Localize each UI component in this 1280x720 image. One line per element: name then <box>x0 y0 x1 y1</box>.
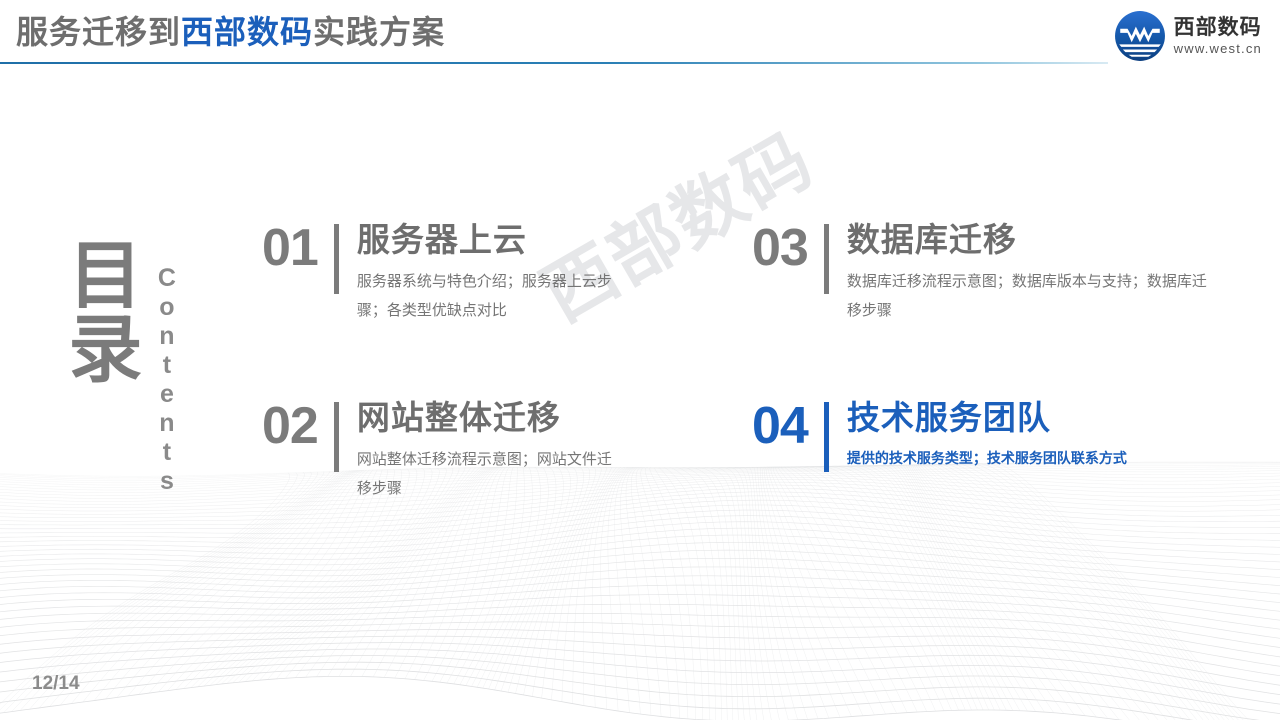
page-title-highlight: 西部数码 <box>181 13 313 51</box>
slide-header: 服务迁移到西部数码实践方案 西部数码 www.west.cn <box>0 0 1280 70</box>
toc-text-block: 技术服务团队 提供的技术服务类型；技术服务团队联系方式 <box>847 400 1212 474</box>
west-cn-circle-logo-icon <box>1114 10 1166 62</box>
toc-description: 服务器系统与特色介绍；服务器上云步骤；各类型优缺点对比 <box>357 267 612 326</box>
toc-text-block: 数据库迁移 数据库迁移流程示意图；数据库版本与支持；数据库迁移步骤 <box>847 222 1212 325</box>
toc-text-block: 网站整体迁移 网站整体迁移流程示意图；网站文件迁移步骤 <box>357 400 612 503</box>
toc-description: 提供的技术服务类型；技术服务团队联系方式 <box>847 445 1212 474</box>
toc-text-block: 服务器上云 服务器系统与特色介绍；服务器上云步骤；各类型优缺点对比 <box>357 222 612 325</box>
toc-title: 数据库迁移 <box>847 222 1212 259</box>
logo-text-block: 西部数码 www.west.cn <box>1174 17 1262 55</box>
toc-divider-bar <box>334 224 339 294</box>
page-title: 服务迁移到西部数码实践方案 <box>16 7 445 53</box>
toc-item-01[interactable]: 01 服务器上云 服务器系统与特色介绍；服务器上云步骤；各类型优缺点对比 <box>262 222 612 325</box>
toc-description: 网站整体迁移流程示意图；网站文件迁移步骤 <box>357 445 612 504</box>
toc-number: 01 <box>262 222 318 274</box>
toc-title: 技术服务团队 <box>847 400 1212 437</box>
toc-number: 03 <box>752 222 808 274</box>
toc-item-02[interactable]: 02 网站整体迁移 网站整体迁移流程示意图；网站文件迁移步骤 <box>262 400 612 503</box>
toc-item-03[interactable]: 03 数据库迁移 数据库迁移流程示意图；数据库版本与支持；数据库迁移步骤 <box>752 222 1212 325</box>
toc-item-04[interactable]: 04 技术服务团队 提供的技术服务类型；技术服务团队联系方式 <box>752 400 1212 474</box>
toc-title: 服务器上云 <box>357 222 612 259</box>
toc-description: 数据库迁移流程示意图；数据库版本与支持；数据库迁移步骤 <box>847 267 1212 326</box>
table-of-contents: 01 服务器上云 服务器系统与特色介绍；服务器上云步骤；各类型优缺点对比 02 … <box>0 0 1280 720</box>
logo-brand-name: 西部数码 <box>1174 17 1262 38</box>
logo-brand-url: www.west.cn <box>1174 42 1262 55</box>
toc-divider-bar <box>824 402 829 472</box>
brand-logo: 西部数码 www.west.cn <box>1114 8 1262 64</box>
toc-divider-bar <box>334 402 339 472</box>
page-title-prefix: 服务迁移到 <box>16 13 181 51</box>
toc-number: 02 <box>262 400 318 452</box>
toc-title: 网站整体迁移 <box>357 400 612 437</box>
page-title-suffix: 实践方案 <box>313 13 445 51</box>
toc-number: 04 <box>752 400 808 452</box>
page-number: 12/14 <box>32 673 80 695</box>
header-divider <box>0 62 1108 64</box>
toc-divider-bar <box>824 224 829 294</box>
